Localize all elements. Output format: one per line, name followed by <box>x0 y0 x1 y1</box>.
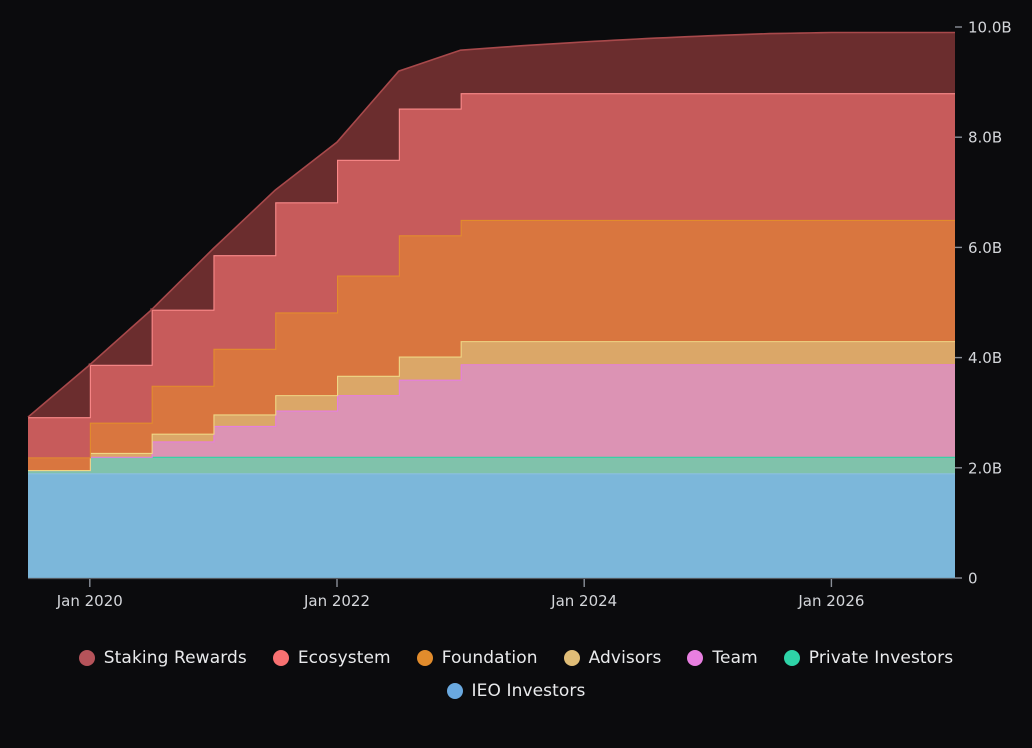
x-tick-label: Jan 2024 <box>550 592 617 610</box>
legend-item-private-investors[interactable]: Private Investors <box>784 648 953 668</box>
legend-swatch-icon <box>79 650 95 666</box>
legend-item-label: Ecosystem <box>298 648 391 668</box>
x-tick-label: Jan 2022 <box>303 592 370 610</box>
legend-item-foundation[interactable]: Foundation <box>417 648 538 668</box>
chart-plot-area[interactable]: 10.0B8.0B6.0B4.0B2.0B0Jan 2020Jan 2022Ja… <box>0 0 1032 640</box>
y-tick-label: 4.0B <box>968 349 1002 367</box>
legend-item-label: IEO Investors <box>472 681 586 701</box>
legend-item-label: Advisors <box>589 648 662 668</box>
legend-swatch-icon <box>417 650 433 666</box>
legend-swatch-icon <box>687 650 703 666</box>
legend-item-advisors[interactable]: Advisors <box>564 648 662 668</box>
legend-item-ecosystem[interactable]: Ecosystem <box>273 648 391 668</box>
area-band-private-investors[interactable] <box>28 457 955 474</box>
stacked-area-chart: 10.0B8.0B6.0B4.0B2.0B0Jan 2020Jan 2022Ja… <box>0 0 1032 748</box>
legend-swatch-icon <box>784 650 800 666</box>
area-band-ieo-investors[interactable] <box>28 473 955 578</box>
legend-item-label: Foundation <box>442 648 538 668</box>
legend-item-label: Team <box>712 648 757 668</box>
legend-item-ieo-investors[interactable]: IEO Investors <box>447 681 586 701</box>
y-tick-label: 6.0B <box>968 239 1002 257</box>
legend-swatch-icon <box>447 683 463 699</box>
legend-item-label: Staking Rewards <box>104 648 247 668</box>
legend-swatch-icon <box>564 650 580 666</box>
legend-row-secondary: IEO Investors <box>0 681 1032 701</box>
legend-row-primary: Staking RewardsEcosystemFoundationAdviso… <box>0 648 1032 668</box>
legend-item-staking-rewards[interactable]: Staking Rewards <box>79 648 247 668</box>
y-tick-label: 10.0B <box>968 19 1012 37</box>
y-tick-label: 0 <box>968 570 978 588</box>
area-series-group <box>28 33 955 578</box>
y-tick-label: 8.0B <box>968 129 1002 147</box>
y-tick-label: 2.0B <box>968 459 1002 477</box>
legend-item-team[interactable]: Team <box>687 648 757 668</box>
x-tick-label: Jan 2026 <box>797 592 864 610</box>
chart-legend: Staking RewardsEcosystemFoundationAdviso… <box>0 648 1032 701</box>
legend-swatch-icon <box>273 650 289 666</box>
legend-item-label: Private Investors <box>809 648 953 668</box>
x-tick-label: Jan 2020 <box>56 592 123 610</box>
